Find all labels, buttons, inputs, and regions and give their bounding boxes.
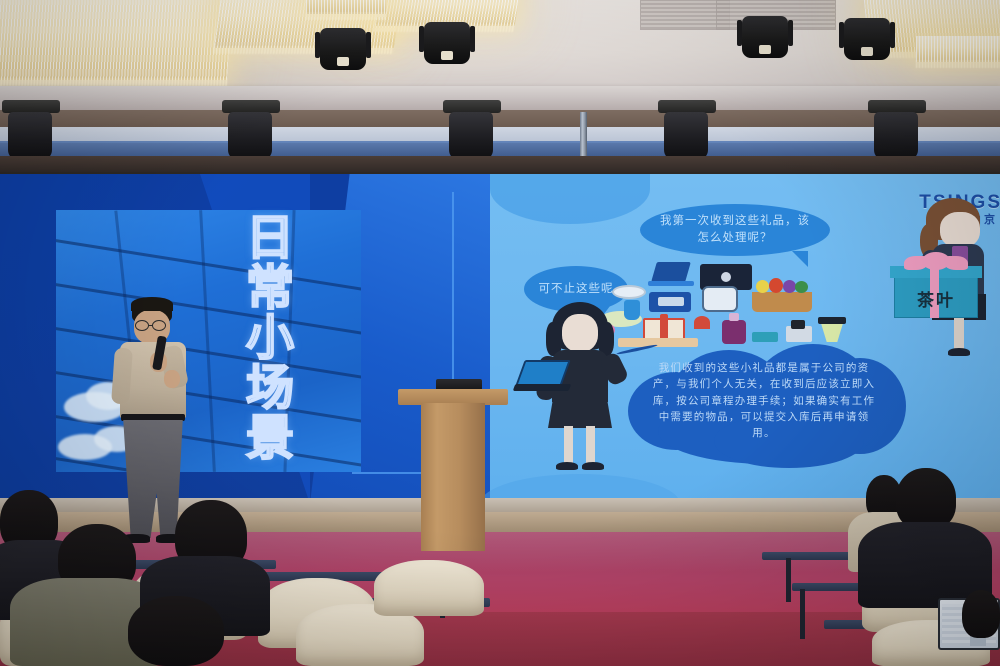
ceiling-light-wash [0, 141, 1000, 157]
gift-speaker-face [658, 297, 684, 306]
crystal-chandelier [916, 36, 1000, 62]
gift-box-ribbon-icon [944, 256, 968, 270]
gift-fruit-basket-icon [752, 292, 812, 312]
stage-spotlight [424, 22, 470, 64]
wooden-podium [421, 403, 485, 551]
desk-leg [800, 589, 805, 639]
camera-mount-pole [580, 112, 587, 160]
lamp-lens [337, 57, 349, 66]
cartoon-face [940, 212, 980, 248]
stage-spotlight [844, 18, 890, 60]
gift-fruit-1 [756, 280, 769, 293]
slide-title-vertical: 日常小场景 [214, 212, 288, 462]
gift-laptop-base [648, 281, 694, 286]
gift-cosmetics-icon [752, 332, 778, 342]
slide-right-cartoon: TSINGS 青山京 我第一次收到这些礼品，该怎么处理呢？ 可不止这些呢 [490, 174, 1000, 504]
presenter-hair-top [131, 297, 173, 311]
slide-wave-decor [490, 174, 650, 224]
gift-briefcase-clasp [721, 272, 731, 282]
presenter-trousers [122, 420, 184, 538]
crystal-chandelier [0, 0, 233, 80]
stage-spotlight [320, 28, 366, 70]
gift-device-screen [791, 320, 805, 329]
gift-fruit-2 [769, 278, 783, 293]
lamp-lens [441, 51, 453, 60]
gift-box-ribbon-icon [904, 256, 928, 270]
cloud-bubble-explanation: 我们收到的这些小礼品都是属于公司的资产，与我们个人无关，在收到后应该立即入库，按… [628, 344, 898, 468]
ceiling-trim [0, 110, 1000, 128]
presenter-belt [121, 414, 185, 421]
cloud-bubble-text: 我们收到的这些小礼品都是属于公司的资产，与我们个人无关，在收到后应该立即入库，按… [650, 360, 878, 441]
moving-head-light [8, 112, 52, 160]
glasses-icon [135, 320, 149, 331]
moving-head-light [449, 112, 493, 160]
gift-fruit-4 [795, 281, 808, 293]
cartoon-shoe [582, 462, 604, 470]
cartoon-leg [564, 426, 573, 466]
moving-head-light [228, 112, 272, 160]
ceiling [0, 0, 1000, 172]
stage-spotlight [742, 16, 788, 58]
speech-bubble-question: 我第一次收到这些礼品，该怎么处理呢？ [640, 204, 830, 256]
gift-perfume-icon [722, 320, 746, 344]
gift-bracelet-icon [612, 285, 646, 299]
lamp-lens [861, 47, 873, 56]
cartoon-laptop-base [513, 384, 572, 391]
attendee-head [128, 596, 224, 666]
cartoon-woman-left [532, 302, 628, 472]
gift-heart-icon [694, 316, 710, 329]
gift-box-label: 茶叶 [894, 286, 978, 311]
cartoon-leg [586, 426, 595, 466]
moving-head-light [664, 112, 708, 160]
gift-perfume-cap [729, 313, 739, 321]
gift-laptop-icon [651, 262, 691, 282]
desk-leg [786, 558, 791, 602]
conference-hall-scene: 日常小场景 TSINGS 青山京 我第一次收到这些礼品，该怎么处理呢？ 可不止这… [0, 0, 1000, 666]
cartoon-skirt [548, 398, 612, 428]
crystal-chandelier [306, 0, 386, 14]
cartoon-shoe [556, 462, 578, 470]
moving-head-light [874, 112, 918, 160]
cartoon-face [562, 314, 598, 352]
cartoon-leg [954, 318, 964, 352]
glasses-bridge [149, 325, 153, 326]
gift-watch-icon [702, 286, 738, 312]
slide-photo-glass-building [56, 210, 361, 472]
conference-chair [374, 560, 484, 616]
presenter-hand [164, 370, 180, 388]
slide-left-title: 日常小场景 [0, 174, 490, 504]
cartoon-held-laptop [515, 360, 570, 386]
glasses-icon [152, 320, 166, 331]
cartoon-shoe [948, 348, 970, 356]
lamp-lens [759, 45, 771, 54]
attendee-head [896, 468, 956, 530]
attendee-head [962, 590, 1000, 638]
gift-cup-lid [818, 317, 846, 324]
